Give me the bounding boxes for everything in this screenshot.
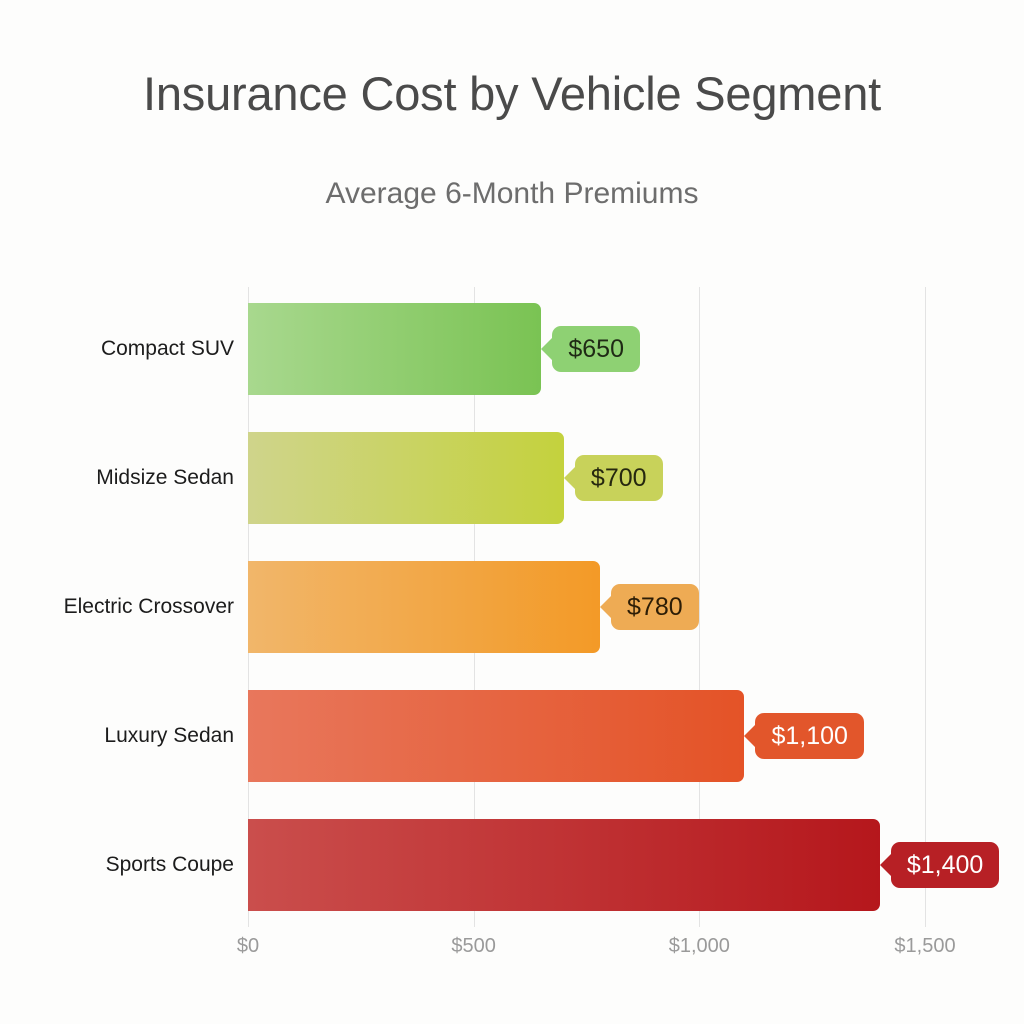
gridline-1500 — [925, 287, 926, 927]
insurance-cost-bar-chart: Insurance Cost by Vehicle Segment Averag… — [0, 0, 1024, 1024]
bar[interactable] — [248, 819, 880, 911]
category-label: Electric Crossover — [64, 561, 234, 653]
category-label: Luxury Sedan — [104, 690, 234, 782]
bar-row[interactable]: Electric Crossover$780 — [248, 561, 925, 653]
value-callout: $780 — [611, 584, 699, 630]
bar[interactable] — [248, 561, 600, 653]
chart-subtitle: Average 6-Month Premiums — [0, 177, 1024, 211]
bar-row[interactable]: Compact SUV$650 — [248, 303, 925, 395]
x-tick-label: $1,500 — [894, 935, 955, 958]
bar-row[interactable]: Sports Coupe$1,400 — [248, 819, 925, 911]
category-label: Sports Coupe — [106, 819, 234, 911]
plot-area: $0$500$1,000$1,500 Compact SUV$650Midsiz… — [248, 287, 925, 927]
value-callout: $700 — [575, 455, 663, 501]
bar-row[interactable]: Midsize Sedan$700 — [248, 432, 925, 524]
bar[interactable] — [248, 432, 564, 524]
bar[interactable] — [248, 303, 541, 395]
bar[interactable] — [248, 690, 744, 782]
value-callout: $1,100 — [755, 713, 863, 759]
value-callout: $650 — [552, 326, 640, 372]
category-label: Midsize Sedan — [96, 432, 234, 524]
chart-title: Insurance Cost by Vehicle Segment — [0, 66, 1024, 121]
x-tick-label: $1,000 — [669, 935, 730, 958]
category-label: Compact SUV — [101, 303, 234, 395]
bar-row[interactable]: Luxury Sedan$1,100 — [248, 690, 925, 782]
value-callout: $1,400 — [891, 842, 999, 888]
x-tick-label: $0 — [237, 935, 259, 958]
x-tick-label: $500 — [451, 935, 496, 958]
